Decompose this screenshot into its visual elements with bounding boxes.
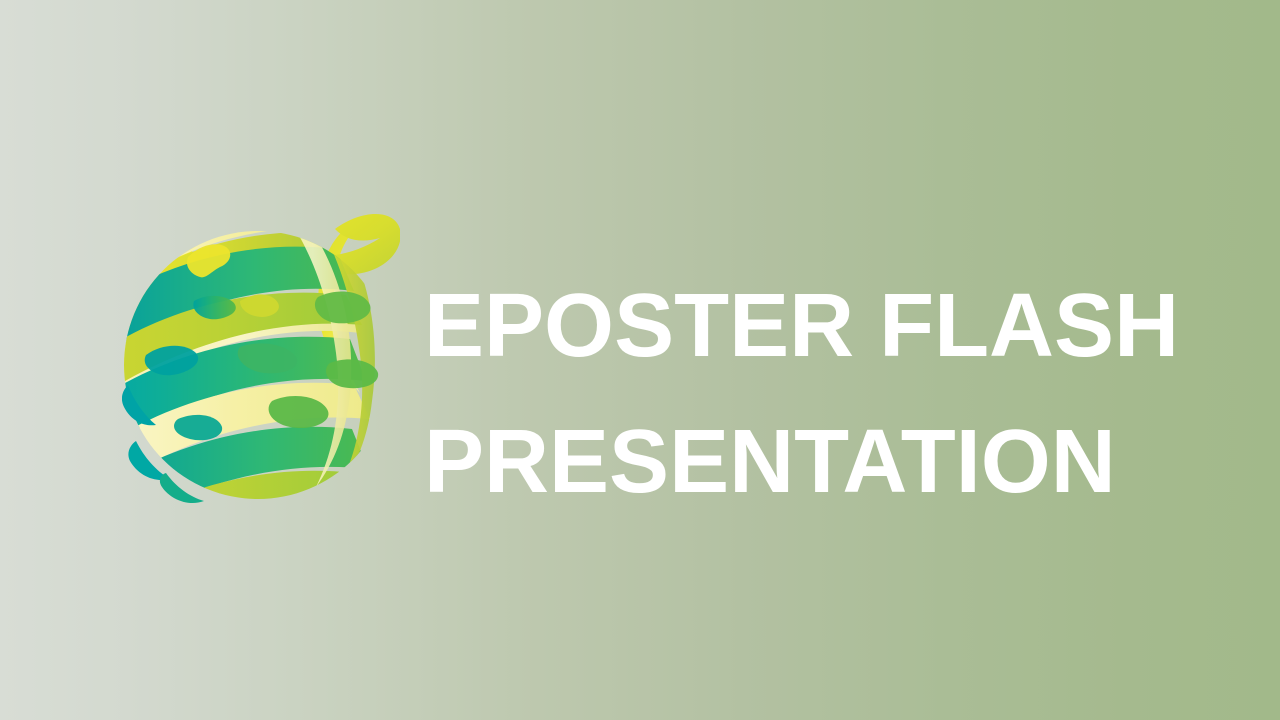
title-line-2: PRESENTATION: [424, 394, 1224, 530]
logo: Stylised globe formed from swirling ribb…: [122, 205, 400, 515]
title-line-1: EPOSTER FLASH: [424, 258, 1224, 394]
globe-leaf-icon: Stylised globe formed from swirling ribb…: [122, 205, 400, 515]
title-block: EPOSTER FLASH PRESENTATION: [424, 258, 1224, 530]
slide-canvas: Stylised globe formed from swirling ribb…: [0, 0, 1280, 720]
